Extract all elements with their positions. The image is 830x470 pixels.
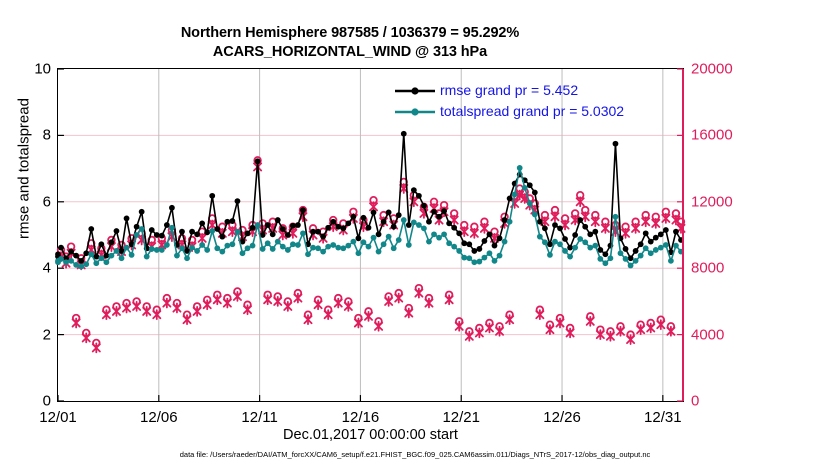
- x-tick-12/11: 12/11: [241, 409, 277, 426]
- y-tick-right-0: 0: [691, 393, 699, 410]
- y-tick-left-10: 10: [34, 61, 51, 78]
- legend: rmse grand pr = 5.452 totalspread grand …: [393, 80, 624, 122]
- x-tick-12/01: 12/01: [39, 409, 77, 426]
- y-tick-right-16000: 16000: [691, 127, 733, 144]
- y-tick-left-6: 6: [43, 193, 51, 210]
- legend-label-rmse: rmse grand pr = 5.452: [440, 80, 578, 101]
- y-tick-left-4: 4: [43, 260, 51, 277]
- y-tick-right-8000: 8000: [691, 260, 724, 277]
- chart-title: Northern Hemisphere 987585 / 1036379 = 9…: [0, 24, 700, 62]
- figure-root: Northern Hemisphere 987585 / 1036379 = 9…: [0, 0, 830, 470]
- y-tick-right-4000: 4000: [691, 326, 724, 343]
- y-tick-left-0: 0: [43, 393, 51, 410]
- x-tick-12/26: 12/26: [543, 409, 581, 426]
- data-file-note: data file: /Users/raeder/DAI/ATM_forcXX/…: [0, 450, 830, 459]
- x-axis-label: Dec.01,2017 00:00:00 start: [57, 427, 684, 443]
- chart-title-line1: Northern Hemisphere 987585 / 1036379 = 9…: [0, 24, 700, 43]
- y-tick-left-8: 8: [43, 127, 51, 144]
- chart-title-line2: ACARS_HORIZONTAL_WIND @ 313 hPa: [0, 43, 700, 62]
- x-tick-12/21: 12/21: [442, 409, 480, 426]
- x-tick-12/06: 12/06: [140, 409, 178, 426]
- x-tick-12/16: 12/16: [342, 409, 380, 426]
- y-tick-right-12000: 12000: [691, 193, 733, 210]
- obs-series-assimilated: [57, 162, 684, 352]
- x-tick-12/31: 12/31: [644, 409, 682, 426]
- legend-swatch-totalspread: [393, 105, 437, 119]
- y-tick-left-2: 2: [43, 326, 51, 343]
- legend-label-totalspread: totalspread grand pr = 5.0302: [440, 101, 624, 122]
- y-axis-left-label: rmse and totalspread: [16, 19, 33, 319]
- series-totalspread: [55, 165, 684, 269]
- legend-item-totalspread[interactable]: totalspread grand pr = 5.0302: [393, 101, 624, 122]
- legend-swatch-rmse: [393, 84, 437, 98]
- legend-item-rmse[interactable]: rmse grand pr = 5.452: [393, 80, 624, 101]
- y-tick-right-20000: 20000: [691, 61, 733, 78]
